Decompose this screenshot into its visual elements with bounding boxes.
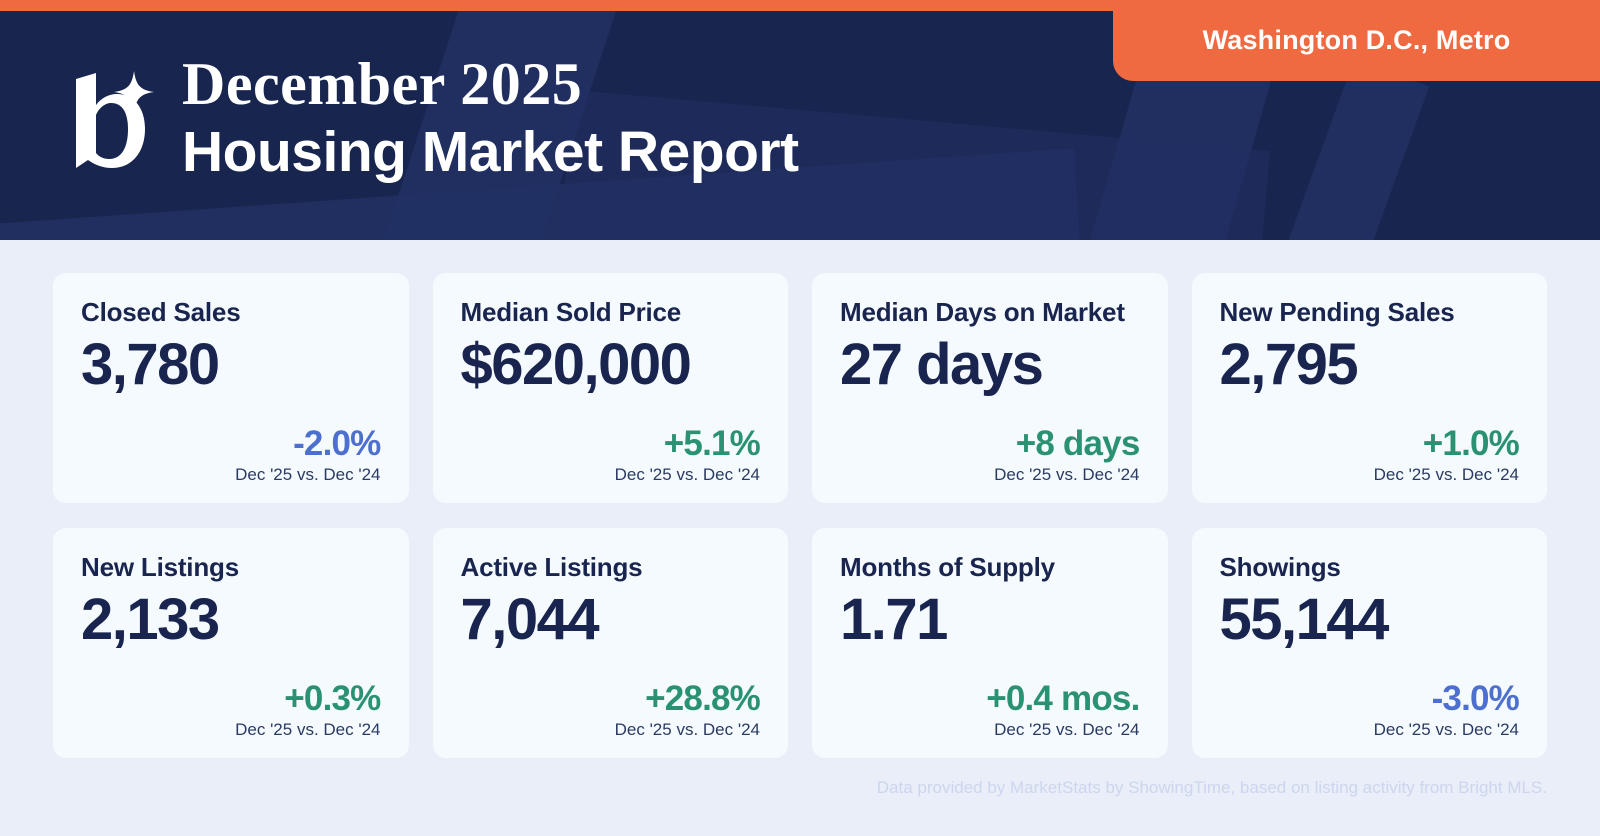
- stat-period: Dec '25 vs. Dec '24: [840, 720, 1140, 740]
- stat-card-new-pending-sales: New Pending Sales 2,795 +1.0% Dec '25 vs…: [1192, 273, 1548, 503]
- stat-period: Dec '25 vs. Dec '24: [81, 720, 381, 740]
- stat-label: Median Days on Market: [840, 298, 1140, 327]
- bright-b-sparkle-logo-icon: [66, 65, 158, 175]
- stat-change: +0.3%: [81, 681, 381, 718]
- report-subtitle: Housing Market Report: [182, 120, 799, 186]
- stat-value: 27 days: [840, 333, 1140, 398]
- stat-label: Median Sold Price: [461, 298, 761, 327]
- stat-value: 7,044: [461, 588, 761, 653]
- stat-footer: -3.0% Dec '25 vs. Dec '24: [1220, 681, 1520, 740]
- stat-label: Active Listings: [461, 553, 761, 582]
- stat-period: Dec '25 vs. Dec '24: [1220, 720, 1520, 740]
- stat-value: 3,780: [81, 333, 381, 398]
- stat-label: Showings: [1220, 553, 1520, 582]
- stat-change: -2.0%: [81, 426, 381, 463]
- stat-card-median-sold-price: Median Sold Price $620,000 +5.1% Dec '25…: [433, 273, 789, 503]
- stat-footer: -2.0% Dec '25 vs. Dec '24: [81, 426, 381, 485]
- stat-change: +8 days: [840, 426, 1140, 463]
- stat-card-closed-sales: Closed Sales 3,780 -2.0% Dec '25 vs. Dec…: [53, 273, 409, 503]
- stat-value: 2,795: [1220, 333, 1520, 398]
- stat-change: -3.0%: [1220, 681, 1520, 718]
- data-attribution: Data provided by MarketStats by ShowingT…: [877, 778, 1547, 798]
- stat-change: +1.0%: [1220, 426, 1520, 463]
- stat-period: Dec '25 vs. Dec '24: [461, 465, 761, 485]
- stat-change: +5.1%: [461, 426, 761, 463]
- stat-period: Dec '25 vs. Dec '24: [1220, 465, 1520, 485]
- stat-card-median-days-on-market: Median Days on Market 27 days +8 days De…: [812, 273, 1168, 503]
- stat-change: +0.4 mos.: [840, 681, 1140, 718]
- stat-footer: +0.3% Dec '25 vs. Dec '24: [81, 681, 381, 740]
- stat-card-showings: Showings 55,144 -3.0% Dec '25 vs. Dec '2…: [1192, 528, 1548, 758]
- stat-card-months-of-supply: Months of Supply 1.71 +0.4 mos. Dec '25 …: [812, 528, 1168, 758]
- stats-grid: Closed Sales 3,780 -2.0% Dec '25 vs. Dec…: [53, 273, 1547, 758]
- stat-period: Dec '25 vs. Dec '24: [840, 465, 1140, 485]
- stat-footer: +0.4 mos. Dec '25 vs. Dec '24: [840, 681, 1140, 740]
- region-badge: Washington D.C., Metro: [1113, 0, 1600, 81]
- stat-card-active-listings: Active Listings 7,044 +28.8% Dec '25 vs.…: [433, 528, 789, 758]
- stat-value: $620,000: [461, 333, 761, 398]
- header-titles: December 2025 Housing Market Report: [182, 54, 799, 186]
- stat-value: 1.71: [840, 588, 1140, 653]
- stat-change: +28.8%: [461, 681, 761, 718]
- report-page: December 2025 Housing Market Report Wash…: [0, 0, 1600, 836]
- stat-footer: +5.1% Dec '25 vs. Dec '24: [461, 426, 761, 485]
- stat-value: 55,144: [1220, 588, 1520, 653]
- stat-value: 2,133: [81, 588, 381, 653]
- stat-footer: +1.0% Dec '25 vs. Dec '24: [1220, 426, 1520, 485]
- report-month-title: December 2025: [182, 54, 799, 114]
- stat-period: Dec '25 vs. Dec '24: [461, 720, 761, 740]
- region-badge-label: Washington D.C., Metro: [1203, 25, 1511, 56]
- stat-footer: +28.8% Dec '25 vs. Dec '24: [461, 681, 761, 740]
- stat-label: New Listings: [81, 553, 381, 582]
- stat-footer: +8 days Dec '25 vs. Dec '24: [840, 426, 1140, 485]
- stat-period: Dec '25 vs. Dec '24: [81, 465, 381, 485]
- stat-label: Months of Supply: [840, 553, 1140, 582]
- stat-card-new-listings: New Listings 2,133 +0.3% Dec '25 vs. Dec…: [53, 528, 409, 758]
- stat-label: New Pending Sales: [1220, 298, 1520, 327]
- stat-label: Closed Sales: [81, 298, 381, 327]
